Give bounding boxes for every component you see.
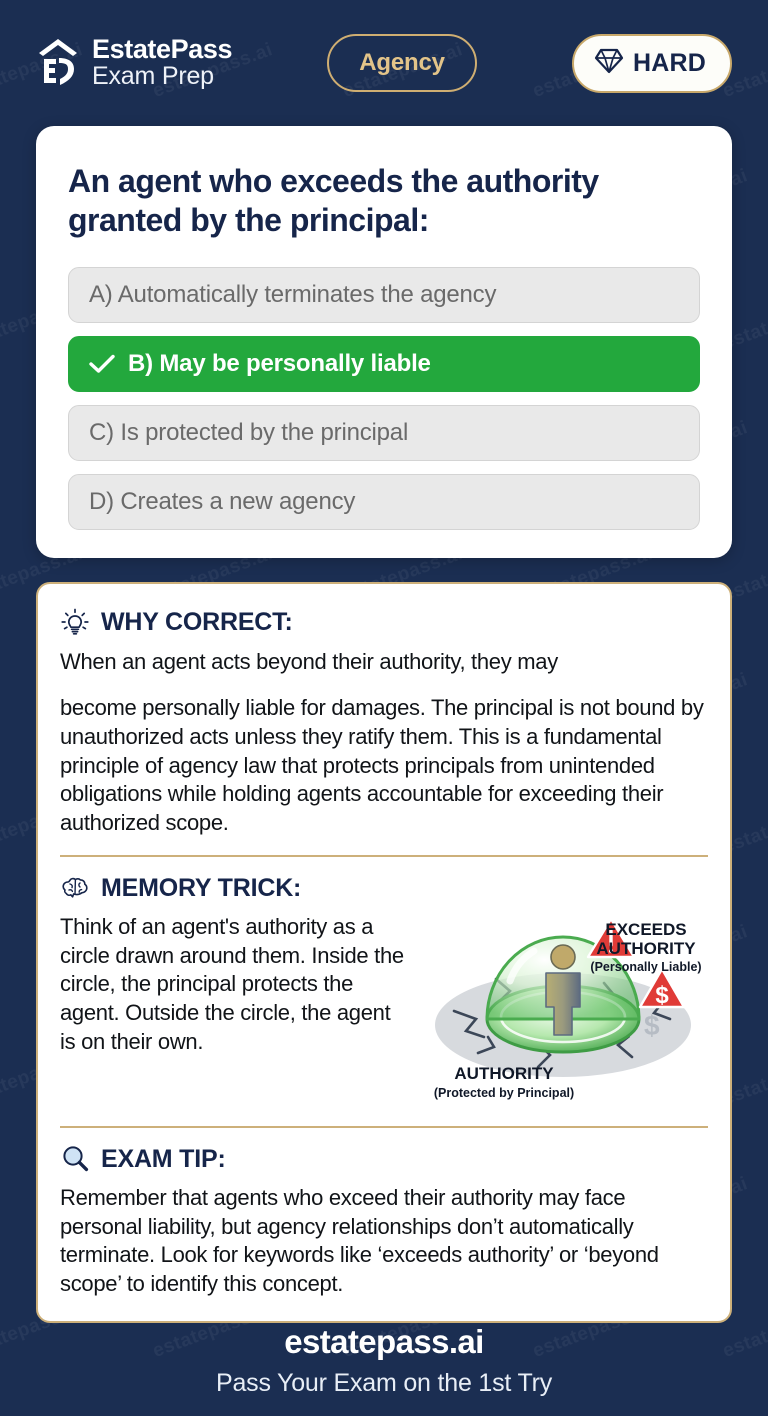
memory-trick-body: Think of an agent's authority as a circl… — [60, 913, 410, 1056]
ground-dollar-glyph: $ — [644, 1010, 660, 1041]
answer-option-b-label: B) May be personally liable — [128, 350, 431, 378]
footer-tagline: Pass Your Exam on the 1st Try — [216, 1369, 552, 1398]
answer-option-d-label: D) Creates a new agency — [89, 488, 355, 516]
difficulty-badge[interactable]: HARD — [572, 34, 732, 93]
house-monogram-icon — [36, 37, 80, 89]
memory-trick-title: MEMORY TRICK: — [101, 874, 301, 903]
brand-text: EstatePass Exam Prep — [92, 36, 232, 89]
header: EstatePass Exam Prep Agency HARD — [36, 0, 732, 126]
answer-options-list: A) Automatically terminates the agency B… — [68, 267, 700, 530]
illustration-authority-sub: (Protected by Principal) — [434, 1086, 574, 1100]
exam-tip-title: EXAM TIP: — [101, 1145, 226, 1174]
svg-text:$: $ — [655, 982, 669, 1009]
exam-tip-block: EXAM TIP: Remember that agents who excee… — [60, 1144, 708, 1298]
footer: estatepass.ai Pass Your Exam on the 1st … — [36, 1323, 732, 1416]
answer-option-a[interactable]: A) Automatically terminates the agency — [68, 267, 700, 323]
why-correct-paragraph-1: When an agent acts beyond their authorit… — [60, 648, 708, 677]
answer-option-b[interactable]: B) May be personally liable — [68, 336, 700, 392]
footer-domain[interactable]: estatepass.ai — [284, 1323, 484, 1361]
brand-line-1: EstatePass — [92, 36, 232, 64]
illustration-exceeds-line-2: AUTHORITY — [596, 939, 696, 958]
diamond-icon — [594, 47, 624, 80]
brand-logo: EstatePass Exam Prep — [36, 36, 232, 89]
answer-option-a-label: A) Automatically terminates the agency — [89, 281, 496, 309]
answer-option-c[interactable]: C) Is protected by the principal — [68, 405, 700, 461]
brand-line-2: Exam Prep — [92, 64, 232, 90]
why-correct-heading: WHY CORRECT: — [60, 608, 708, 638]
exam-tip-heading: EXAM TIP: — [60, 1144, 708, 1174]
illustration-exceeds-sub: (Personally Liable) — [590, 960, 701, 974]
authority-bubble-illustration: $ $ EXCEEDS AUTHORITY (Personally Liable… — [418, 907, 708, 1108]
explanation-card: WHY CORRECT: When an agent acts beyond t… — [36, 582, 732, 1323]
page-root: EstatePass Exam Prep Agency HARD An agen… — [0, 0, 768, 1376]
question-card: An agent who exceeds the authority grant… — [36, 126, 732, 558]
memory-trick-heading: MEMORY TRICK: — [60, 873, 708, 903]
memory-trick-row: Think of an agent's authority as a circl… — [60, 913, 708, 1108]
lightbulb-icon — [60, 608, 90, 638]
brain-icon — [60, 873, 90, 903]
section-divider-2 — [60, 1126, 708, 1128]
why-correct-title: WHY CORRECT: — [101, 608, 293, 637]
difficulty-label: HARD — [633, 49, 706, 78]
topic-badge[interactable]: Agency — [327, 34, 477, 92]
illustration-exceeds-line-1: EXCEEDS — [605, 920, 686, 939]
why-correct-paragraph-2: become personally liable for damages. Th… — [60, 694, 708, 837]
magnifier-icon — [60, 1144, 90, 1174]
answer-option-c-label: C) Is protected by the principal — [89, 419, 408, 447]
exam-tip-body: Remember that agents who exceed their au… — [60, 1184, 708, 1298]
answer-option-d[interactable]: D) Creates a new agency — [68, 474, 700, 530]
question-text: An agent who exceeds the authority grant… — [68, 162, 700, 241]
section-divider-1 — [60, 855, 708, 857]
check-icon — [89, 354, 115, 374]
illustration-authority-label: AUTHORITY — [454, 1064, 554, 1083]
